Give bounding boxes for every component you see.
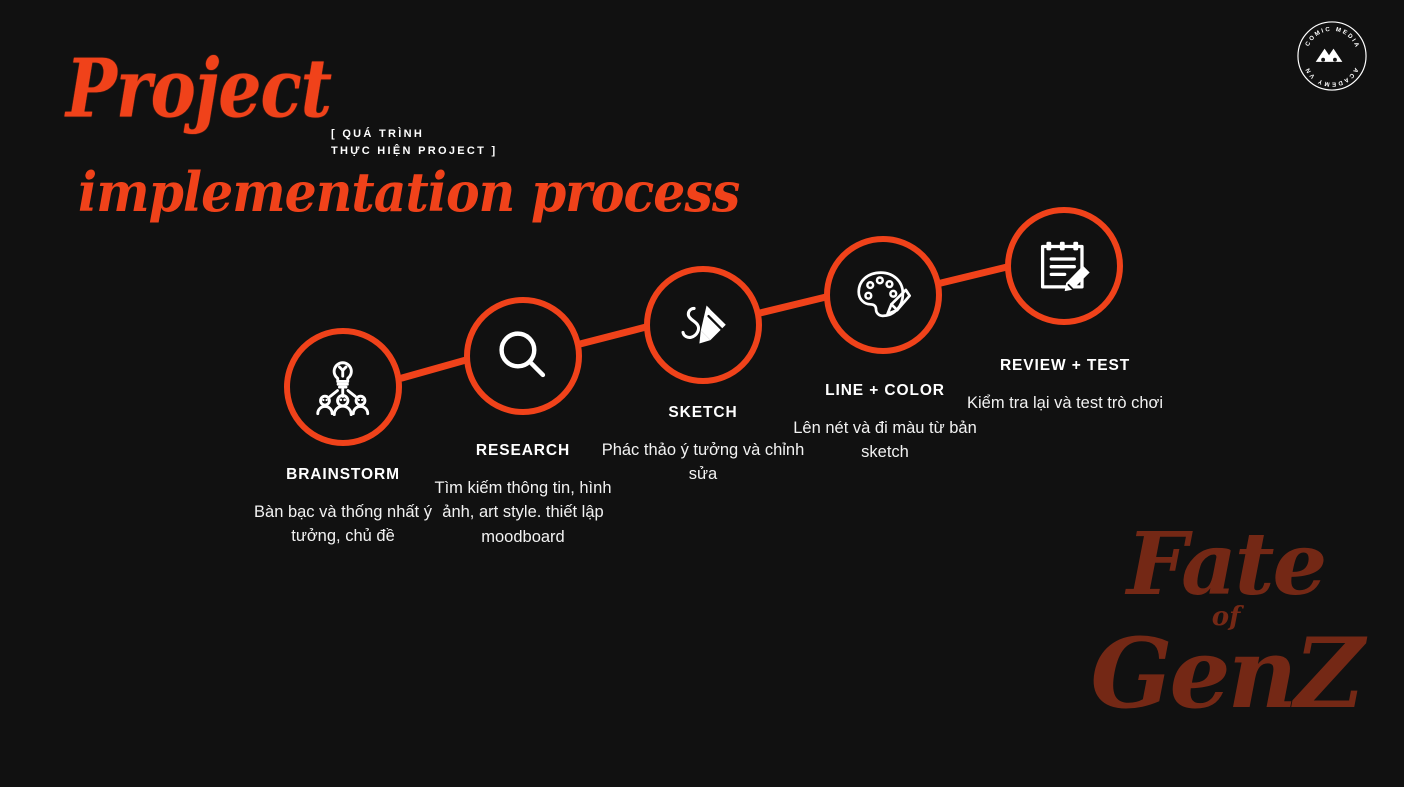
flow-step-research-text: RESEARCH Tìm kiếm thông tin, hình ảnh, a… xyxy=(418,442,628,549)
brainstorm-lightbulb-people-icon xyxy=(312,356,373,417)
page-title: Project xyxy=(66,48,331,129)
sketch-pencil-icon xyxy=(672,294,733,355)
fate-of-genz-watermark: Fate of GenZ xyxy=(1076,525,1376,765)
flow-step-review-test-text: REVIEW + TEST Kiểm tra lại và test trò c… xyxy=(960,357,1170,415)
flow-step-brainstorm-desc: Bàn bạc và thống nhất ý tưởng, chủ đề xyxy=(238,500,448,549)
flow-step-brainstorm-title: BRAINSTORM xyxy=(238,466,448,484)
flow-step-brainstorm-circle[interactable] xyxy=(284,328,402,446)
flow-step-line-color-circle[interactable] xyxy=(824,236,942,354)
flow-step-review-test-circle[interactable] xyxy=(1005,207,1123,325)
flow-step-sketch-circle[interactable] xyxy=(644,266,762,384)
notepad-pencil-icon xyxy=(1033,235,1094,296)
page-subtitle: implementation process xyxy=(78,166,739,221)
watermark-line-1: Fate xyxy=(1076,525,1376,604)
palette-brush-icon xyxy=(852,264,913,325)
flow-step-brainstorm-text: BRAINSTORM Bàn bạc và thống nhất ý tưởng… xyxy=(238,466,448,549)
search-magnifier-icon xyxy=(492,325,553,386)
flow-step-research-desc: Tìm kiếm thông tin, hình ảnh, art style.… xyxy=(418,476,628,549)
title-block: Project implementation process [ QUÁ TRÌ… xyxy=(66,48,766,198)
flow-step-research-title: RESEARCH xyxy=(418,442,628,460)
svg-text:COMIC MEDIA: COMIC MEDIA xyxy=(1305,27,1360,50)
watermark-line-2: of xyxy=(1076,606,1376,630)
slide-canvas: Project implementation process [ QUÁ TRÌ… xyxy=(0,0,1404,787)
flow-step-sketch-title: SKETCH xyxy=(598,404,808,422)
flow-step-sketch-text: SKETCH Phác thảo ý tưởng và chỉnh sửa xyxy=(598,404,808,487)
flow-step-line-color-title: LINE + COLOR xyxy=(780,382,990,400)
flow-step-sketch-desc: Phác thảo ý tưởng và chỉnh sửa xyxy=(598,438,808,487)
flow-step-review-test-title: REVIEW + TEST xyxy=(960,357,1170,375)
flow-step-line-color-desc: Lên nét và đi màu từ bản sketch xyxy=(780,416,990,465)
title-bracket-caption: [ QUÁ TRÌNH THỰC HIỆN PROJECT ] xyxy=(331,126,498,160)
comic-media-academy-logo-icon: COMIC MEDIA ACADEMY VN xyxy=(1295,19,1369,93)
flow-step-review-test-desc: Kiểm tra lại và test trò chơi xyxy=(960,391,1170,415)
flow-step-research-circle[interactable] xyxy=(464,297,582,415)
flow-step-line-color-text: LINE + COLOR Lên nét và đi màu từ bản sk… xyxy=(780,382,990,465)
watermark-line-3: GenZ xyxy=(1076,630,1376,718)
